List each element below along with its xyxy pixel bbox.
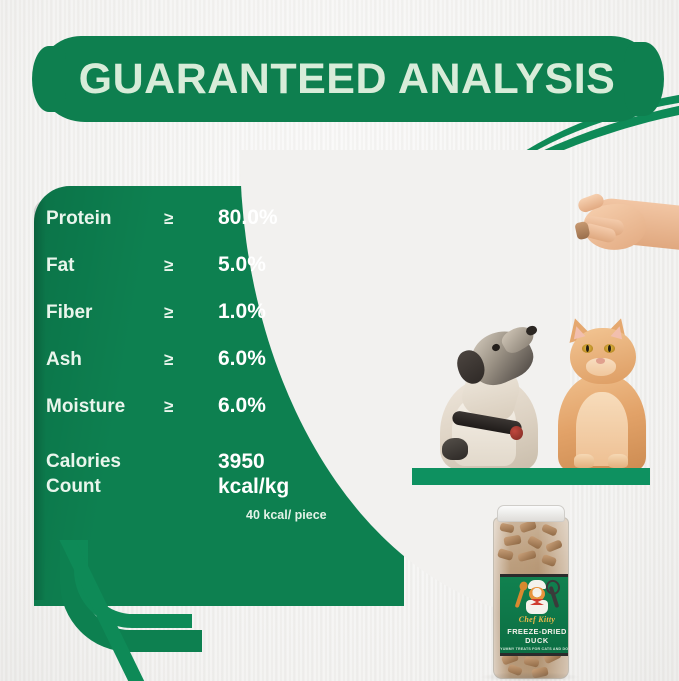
nutrient-operator: ≥ bbox=[164, 397, 218, 417]
nutrient-value: 1.0% bbox=[218, 300, 346, 324]
table-row: Fat ≥ 5.0% bbox=[46, 253, 346, 300]
whisk-icon bbox=[549, 586, 560, 608]
nutrient-operator: ≥ bbox=[164, 303, 218, 323]
calories-label-line2: Count bbox=[46, 474, 218, 499]
kibble bbox=[517, 550, 536, 562]
nutrient-label: Fat bbox=[46, 255, 164, 277]
cat-paw-right bbox=[608, 454, 628, 468]
nutrient-value: 5.0% bbox=[218, 253, 346, 277]
cat-paw-left bbox=[574, 454, 594, 468]
brand-name: Chef Kitty bbox=[519, 615, 556, 624]
page-title: GUARANTEED ANALYSIS bbox=[38, 36, 656, 122]
jar-cap bbox=[497, 505, 565, 522]
calories-value-line2: kcal/kg bbox=[218, 474, 289, 499]
panel-left-edge bbox=[34, 200, 46, 600]
kibble bbox=[527, 535, 544, 550]
cat-eye-right bbox=[604, 344, 615, 353]
nutrient-value: 6.0% bbox=[218, 347, 346, 371]
mascot-cat-face bbox=[529, 587, 545, 601]
dog-collar-tag bbox=[510, 426, 523, 440]
guaranteed-analysis-table: Protein ≥ 80.0% Fat ≥ 5.0% Fiber ≥ 1.0% … bbox=[46, 206, 346, 499]
calories-row: Calories Count 3950 kcal/kg bbox=[46, 449, 346, 499]
table-row: Protein ≥ 80.0% bbox=[46, 206, 346, 253]
calories-note: 40 kcal/ piece bbox=[246, 508, 327, 522]
nutrient-operator: ≥ bbox=[164, 350, 218, 370]
dog-photo bbox=[436, 320, 546, 470]
nutrient-operator: ≥ bbox=[164, 256, 218, 276]
jar-body: Chef Kitty FREEZE-DRIED DUCK YUMMY TREAT… bbox=[493, 517, 569, 679]
nutrient-value: 80.0% bbox=[218, 206, 346, 230]
calories-label-line1: Calories bbox=[46, 449, 218, 474]
cat-eye-left bbox=[582, 344, 593, 353]
nutrient-label: Ash bbox=[46, 349, 164, 371]
table-row: Moisture ≥ 6.0% bbox=[46, 394, 346, 441]
jar-shadow bbox=[480, 672, 580, 681]
kibble bbox=[541, 523, 558, 536]
kibble bbox=[523, 656, 539, 667]
hand-with-treat bbox=[578, 196, 679, 266]
nutrient-operator: ≥ bbox=[164, 209, 218, 229]
nutrient-value: 6.0% bbox=[218, 394, 346, 418]
nutrient-label: Fiber bbox=[46, 302, 164, 324]
table-row: Ash ≥ 6.0% bbox=[46, 347, 346, 394]
product-jar: Chef Kitty FREEZE-DRIED DUCK YUMMY TREAT… bbox=[487, 505, 573, 677]
kibble bbox=[497, 548, 514, 561]
table-row: Fiber ≥ 1.0% bbox=[46, 300, 346, 347]
title-banner: GUARANTEED ANALYSIS bbox=[38, 36, 656, 122]
product-name-line1: FREEZE-DRIED bbox=[507, 627, 566, 636]
cat-photo bbox=[548, 316, 656, 470]
nutrient-label: Moisture bbox=[46, 396, 164, 418]
cat-nose bbox=[596, 358, 605, 364]
infographic-canvas: GUARANTEED ANALYSIS Protein ≥ 80.0% Fat … bbox=[0, 0, 679, 681]
product-name-line2: DUCK bbox=[525, 636, 549, 645]
dog-fur-patch bbox=[442, 438, 468, 460]
product-tagline: YUMMY TREATS FOR CATS AND DOGS bbox=[500, 647, 569, 651]
chef-cat-mascot-icon bbox=[517, 580, 557, 614]
calories-value: 3950 kcal/kg bbox=[218, 449, 289, 499]
pet-platform-bar bbox=[412, 468, 650, 485]
calories-value-line1: 3950 bbox=[218, 449, 289, 474]
nutrient-label: Protein bbox=[46, 208, 164, 230]
kibble bbox=[545, 539, 563, 552]
kibble bbox=[499, 523, 514, 534]
kibble bbox=[541, 554, 557, 567]
kibble bbox=[503, 535, 521, 547]
spoon-icon bbox=[515, 586, 526, 608]
jar-label: Chef Kitty FREEZE-DRIED DUCK YUMMY TREAT… bbox=[500, 574, 569, 656]
calories-label: Calories Count bbox=[46, 449, 218, 499]
